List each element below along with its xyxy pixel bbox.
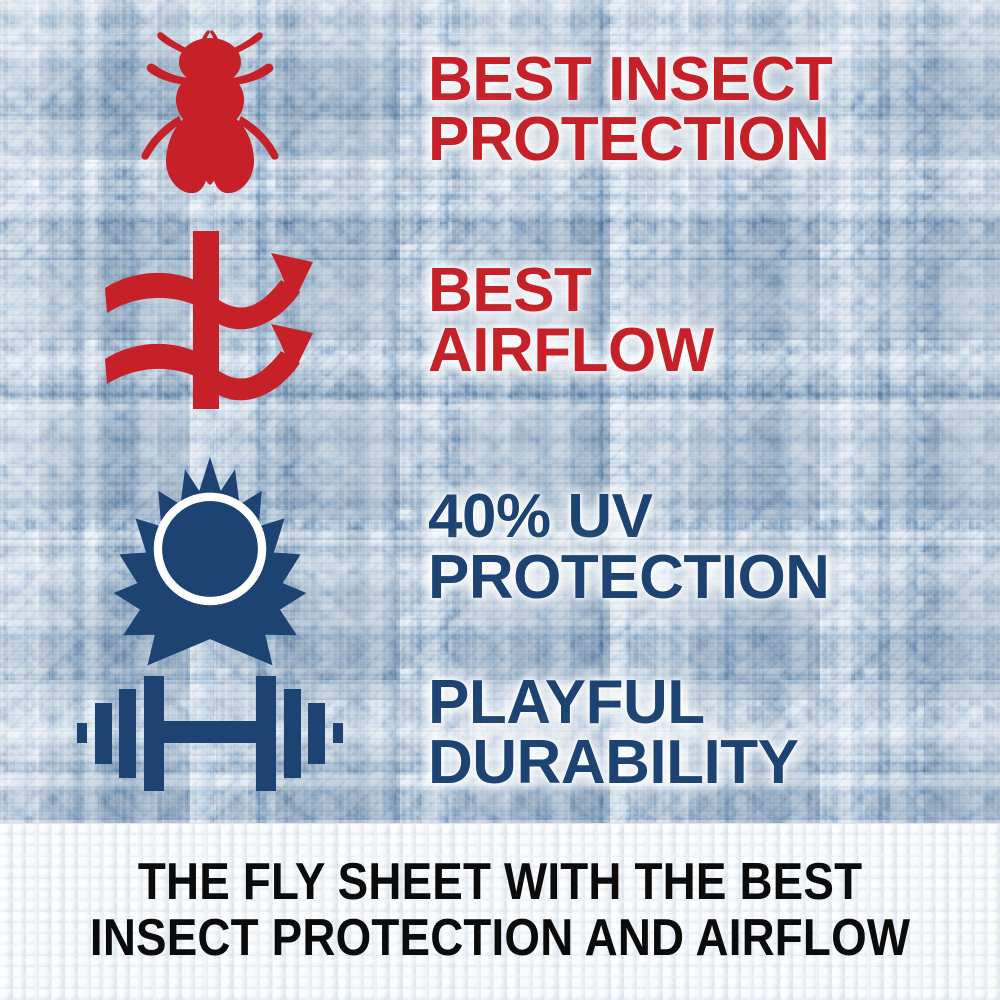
feature-row-durability: PLAYFUL DURABILITY: [0, 658, 1000, 808]
feature-text-cell: PLAYFUL DURABILITY: [420, 673, 1000, 793]
feature-text-cell: 40% UV PROTECTION: [420, 487, 1000, 607]
feature-row-insect-protection: BEST INSECT PROTECTION: [0, 14, 1000, 204]
feature-text-cell: BEST AIRFLOW: [420, 259, 1000, 381]
feature-icon-cell: [0, 671, 420, 796]
feature-label-durability: PLAYFUL DURABILITY: [428, 673, 1000, 793]
feature-row-uv-protection: 40% UV PROTECTION: [0, 445, 1000, 650]
infographic-poster: BEST INSECT PROTECTION: [0, 0, 1000, 1000]
airflow-arrows-icon: [95, 225, 325, 415]
feature-icon-cell: [0, 453, 420, 643]
feature-label-airflow: BEST AIRFLOW: [428, 261, 1000, 381]
sun-icon: [117, 453, 303, 643]
feature-label-insect-protection: BEST INSECT PROTECTION: [428, 50, 1000, 170]
feature-row-airflow: BEST AIRFLOW: [0, 222, 1000, 418]
caption-text: THE FLY SHEET WITH THE BEST INSECT PROTE…: [90, 855, 910, 969]
dumbbell-icon: [75, 671, 345, 796]
feature-icon-cell: [0, 17, 420, 202]
feature-icon-cell: [0, 225, 420, 415]
feature-text-cell: BEST INSECT PROTECTION: [420, 48, 1000, 170]
fly-icon: [130, 17, 290, 202]
feature-label-uv-protection: 40% UV PROTECTION: [428, 487, 1000, 607]
feature-list: BEST INSECT PROTECTION: [0, 0, 1000, 823]
caption-bar: THE FLY SHEET WITH THE BEST INSECT PROTE…: [0, 823, 1000, 1000]
